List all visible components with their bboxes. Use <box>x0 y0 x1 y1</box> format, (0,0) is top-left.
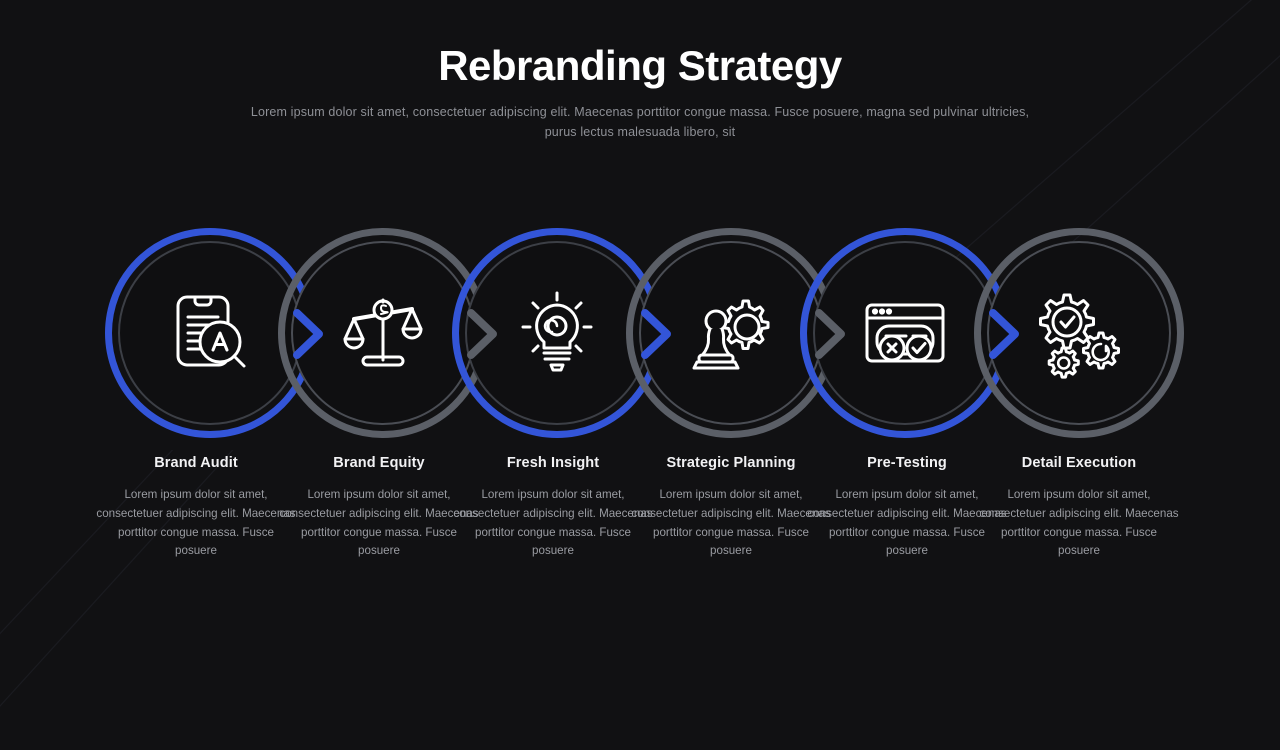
caption-body: Lorem ipsum dolor sit amet, consectetuer… <box>96 486 296 561</box>
caption-title: Fresh Insight <box>453 455 653 471</box>
caption-body: Lorem ipsum dolor sit amet, consectetuer… <box>807 486 1007 561</box>
caption-title: Brand Audit <box>96 455 296 471</box>
connector-1-chevron-icon <box>290 306 328 362</box>
caption-body: Lorem ipsum dolor sit amet, consectetuer… <box>453 486 653 561</box>
connector-5-chevron-icon <box>986 306 1024 362</box>
caption-brand-equity: Brand Equity Lorem ipsum dolor sit amet,… <box>279 455 479 561</box>
caption-fresh-insight: Fresh Insight Lorem ipsum dolor sit amet… <box>453 455 653 561</box>
caption-title: Pre-Testing <box>807 455 1007 471</box>
caption-body: Lorem ipsum dolor sit amet, consectetuer… <box>279 486 479 561</box>
caption-pre-testing: Pre-Testing Lorem ipsum dolor sit amet, … <box>807 455 1007 561</box>
caption-body: Lorem ipsum dolor sit amet, consectetuer… <box>979 486 1179 561</box>
slide-root: Rebranding Strategy Lorem ipsum dolor si… <box>0 0 1280 720</box>
caption-detail-execution: Detail Execution Lorem ipsum dolor sit a… <box>979 455 1179 561</box>
page-subtitle: Lorem ipsum dolor sit amet, consectetuer… <box>245 103 1035 143</box>
connector-2-chevron-icon <box>464 306 502 362</box>
caption-title: Brand Equity <box>279 455 479 471</box>
page-title: Rebranding Strategy <box>0 42 1280 89</box>
caption-title: Detail Execution <box>979 455 1179 471</box>
caption-body: Lorem ipsum dolor sit amet, consectetuer… <box>631 486 831 561</box>
header: Rebranding Strategy Lorem ipsum dolor si… <box>0 0 1280 143</box>
connector-4-chevron-icon <box>812 306 850 362</box>
caption-title: Strategic Planning <box>631 455 831 471</box>
caption-strategic-planning: Strategic Planning Lorem ipsum dolor sit… <box>631 455 831 561</box>
caption-brand-audit: Brand Audit Lorem ipsum dolor sit amet, … <box>96 455 296 561</box>
connector-3-chevron-icon <box>638 306 676 362</box>
process-flow <box>0 228 1280 438</box>
